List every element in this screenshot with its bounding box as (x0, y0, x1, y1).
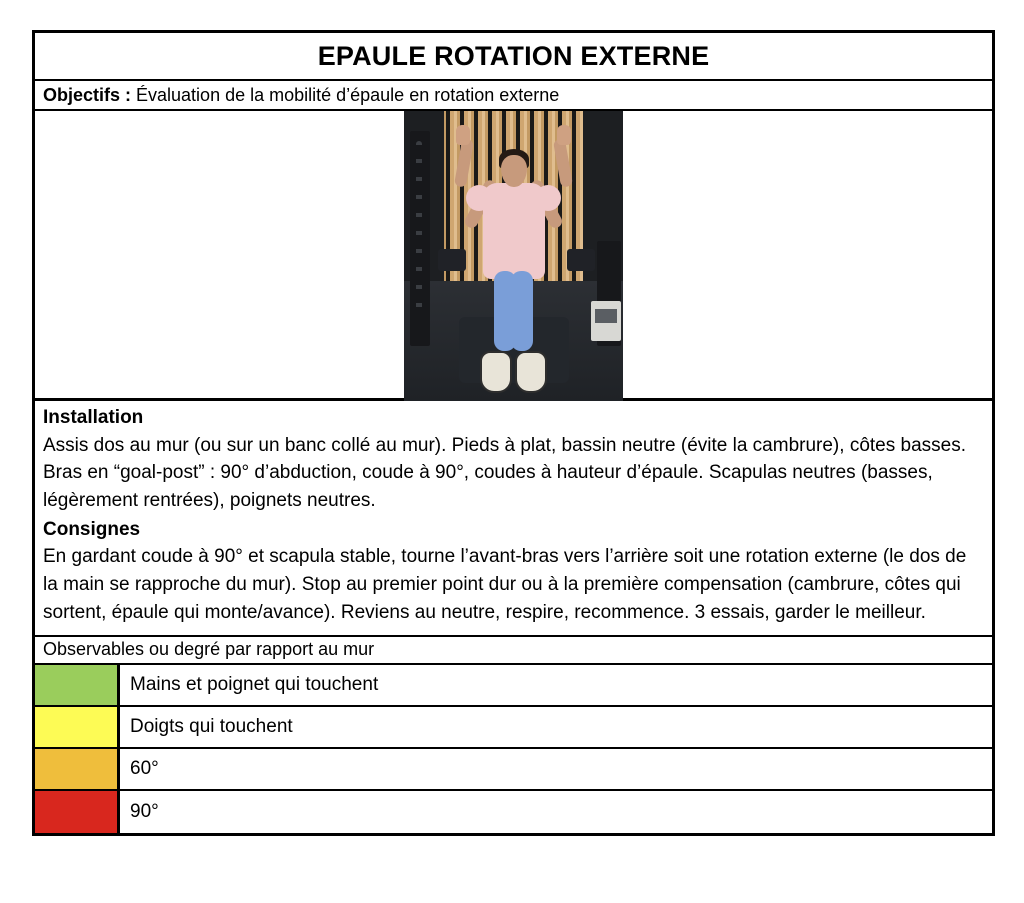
instructions-block: Installation Assis dos au mur (ou sur un… (35, 401, 992, 637)
person-figure (404, 111, 623, 401)
color-swatch-orange (35, 749, 120, 789)
leg-right (511, 271, 533, 351)
table-row: Mains et poignet qui touchent (35, 665, 992, 707)
consignes-body: En gardant coude à 90° et scapula stable… (43, 543, 984, 626)
scale-label: 60° (120, 749, 992, 789)
objectifs-row: Objectifs : Évaluation de la mobilité d’… (35, 81, 992, 111)
exercise-photo (404, 111, 623, 401)
table-row: 90° (35, 791, 992, 833)
shoe-right (515, 351, 547, 393)
hand-right (557, 125, 571, 145)
exercise-sheet: EPAULE ROTATION EXTERNE Objectifs : Éval… (32, 30, 995, 836)
consignes-heading: Consignes (43, 517, 984, 543)
observables-header-label: Observables ou degré par rapport au mur (43, 639, 374, 660)
scale-label: Doigts qui touchent (120, 707, 992, 747)
page-title: EPAULE ROTATION EXTERNE (318, 43, 710, 70)
shoe-left (480, 351, 512, 393)
table-row: 60° (35, 749, 992, 791)
color-swatch-yellow (35, 707, 120, 747)
scale-label: 90° (120, 791, 992, 833)
color-swatch-green (35, 665, 120, 705)
forearm-left (454, 138, 474, 187)
objectifs-value: Évaluation de la mobilité d’épaule en ro… (136, 85, 559, 106)
objectifs-label: Objectifs : (43, 85, 131, 106)
installation-body: Assis dos au mur (ou sur un banc collé a… (43, 432, 984, 515)
hand-left (456, 125, 470, 145)
torso (483, 183, 545, 279)
installation-heading: Installation (43, 405, 984, 431)
scale-label: Mains et poignet qui touchent (120, 665, 992, 705)
table-row: Doigts qui touchent (35, 707, 992, 749)
photo-row (35, 111, 992, 401)
forearm-right (553, 138, 573, 187)
sheet-title-row: EPAULE ROTATION EXTERNE (35, 33, 992, 81)
color-swatch-red (35, 791, 120, 833)
observables-header-row: Observables ou degré par rapport au mur (35, 637, 992, 665)
